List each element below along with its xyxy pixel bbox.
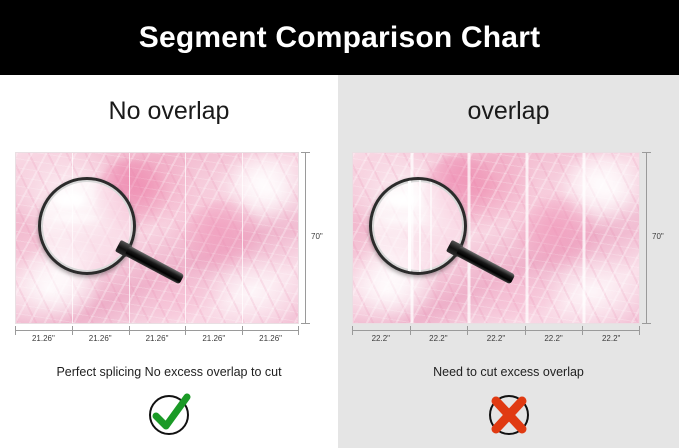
zoomed-overlap-seam [408,180,411,272]
mural-seam [72,153,73,323]
panel-overlap: overlap [338,75,679,448]
segment-width-label: 21.26" [185,334,242,343]
height-ruler-overlap [642,152,650,324]
magnifier-handle [455,246,515,285]
mural-texture [353,153,639,323]
segment-width-label: 22.2" [525,334,583,343]
mural-overlap-seam [467,153,471,323]
ruler-line [352,330,640,331]
ruler-line [15,330,299,331]
mural-overlap-seam [582,153,586,323]
zoomed-overlap-seam [419,180,421,272]
title-bar: Segment Comparison Chart [0,0,679,75]
lens-glare [55,193,85,207]
magnifier-lens [369,177,467,275]
lens-glare [386,193,416,207]
lens-glare [51,214,99,223]
comparison-panels: No overlap [0,75,679,448]
ruler-tick [301,152,310,153]
magnifier-collar [446,240,464,258]
petal-blob [225,153,298,221]
width-ruler-overlap [352,326,640,334]
segment-width-label: 21.26" [129,334,186,343]
caption-overlap: Need to cut excess overlap [338,365,679,379]
segment-labels-no-overlap: 21.26" 21.26" 21.26" 21.26" 21.26" [15,334,299,343]
mural-wrap-no-overlap: 21.26" 21.26" 21.26" 21.26" 21.26" 70" [15,152,299,334]
petal-blob [559,153,639,221]
petal-blob [422,156,496,231]
panel-no-overlap: No overlap [0,75,338,448]
panel-heading-no-overlap: No overlap [0,97,338,126]
check-mark-icon [147,393,191,437]
petal-blob [95,160,168,235]
ruler-line [646,152,647,324]
height-label-no-overlap: 70" [311,232,323,241]
magnifier-lens [38,177,136,275]
magnifier-handle [124,246,184,285]
magnifier-no-overlap [38,177,218,287]
zoomed-overlap-seam [430,180,432,272]
mural-seam [129,153,130,323]
panel-heading-overlap: overlap [338,97,679,126]
ruler-tick [642,152,651,153]
mural-seam [185,153,186,323]
height-ruler-no-overlap [301,152,309,324]
cross-mark-icon [487,393,531,437]
ruler-tick [642,323,651,324]
verdict-overlap [338,393,679,437]
segment-width-label: 22.2" [467,334,525,343]
mural-overlap-seam [410,153,414,323]
ruler-tick [301,323,310,324]
page-title: Segment Comparison Chart [139,21,541,55]
mural-texture [16,153,298,323]
segment-width-label: 22.2" [410,334,468,343]
mural-overlap-seam [525,153,529,323]
verdict-no-overlap [0,393,338,437]
segment-width-label: 21.26" [72,334,129,343]
mural-seam [242,153,243,323]
width-ruler-no-overlap [15,326,299,334]
mural-image-overlap [352,152,640,324]
segment-width-label: 21.26" [242,334,299,343]
lens-glare [382,216,428,224]
petal-blob [353,235,439,320]
segment-width-label: 22.2" [582,334,640,343]
petal-blob [22,238,107,320]
mural-wrap-overlap: 22.2" 22.2" 22.2" 22.2" 22.2" 70" [352,152,640,334]
segment-width-label: 22.2" [352,334,410,343]
magnifier-collar [115,240,133,258]
mural-image-no-overlap [15,152,299,324]
petal-blob [185,201,264,279]
caption-no-overlap: Perfect splicing No excess overlap to cu… [0,365,338,379]
segment-labels-overlap: 22.2" 22.2" 22.2" 22.2" 22.2" [352,334,640,343]
ruler-line [305,152,306,324]
petal-blob [519,197,599,275]
magnifier-overlap [369,177,549,287]
height-label-overlap: 70" [652,232,664,241]
segment-width-label: 21.26" [15,334,72,343]
